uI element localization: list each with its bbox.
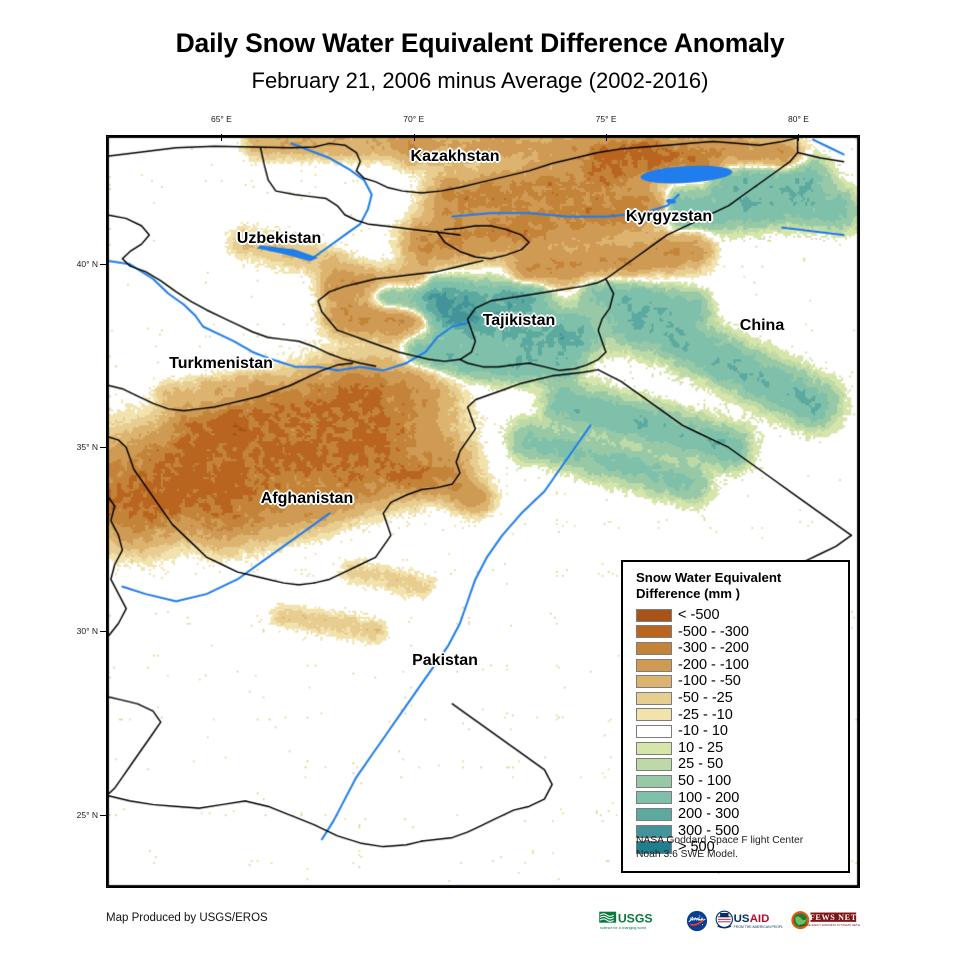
legend-swatch: [636, 625, 672, 638]
legend-swatch: [636, 742, 672, 755]
legend-panel: Snow Water Equivalent Difference (mm ) <…: [621, 560, 850, 873]
legend-label: -25 - -10: [678, 708, 733, 723]
legend-swatch: [636, 659, 672, 672]
lat-tick-label-3: 25° N: [58, 810, 98, 820]
legend-label: -100 - -50: [678, 674, 741, 689]
svg-text:FROM THE AMERICAN PEOPLE: FROM THE AMERICAN PEOPLE: [734, 925, 783, 929]
svg-text:science for a changing world: science for a changing world: [600, 926, 646, 930]
svg-text:USGS: USGS: [618, 911, 653, 925]
legend-row: 10 - 25: [636, 740, 841, 757]
legend-swatch: [636, 675, 672, 688]
nasa-logo: NASA: [686, 910, 708, 932]
legend-swatch: [636, 692, 672, 705]
lon-tick-mark-2: [606, 134, 607, 141]
legend-label: -500 - -300: [678, 625, 749, 640]
legend-row: 50 - 100: [636, 773, 841, 790]
legend-row: 25 - 50: [636, 756, 841, 773]
lat-tick-mark-2: [100, 631, 107, 632]
svg-text:NASA: NASA: [690, 917, 704, 923]
legend-swatch: [636, 808, 672, 821]
legend-label: -300 - -200: [678, 641, 749, 656]
legend-label: 100 - 200: [678, 791, 739, 806]
legend-source-line2: Noah 3.6 SWE Model.: [636, 848, 803, 862]
lat-tick-mark-1: [100, 447, 107, 448]
legend-title: Snow Water Equivalent Difference (mm ): [636, 570, 841, 602]
lon-tick-mark-1: [414, 134, 415, 141]
lon-tick-label-1: 70° E: [403, 114, 424, 124]
usgs-logo: USGS science for a changing world: [597, 910, 681, 932]
legend-row: -200 - -100: [636, 657, 841, 674]
legend-label: -50 - -25: [678, 691, 733, 706]
map-page: Daily Snow Water Equivalent Difference A…: [0, 0, 960, 960]
legend-row: < -500: [636, 607, 841, 624]
legend-label: -10 - 10: [678, 724, 728, 739]
legend-title-line1: Snow Water Equivalent: [636, 570, 841, 586]
lat-tick-label-0: 40° N: [58, 259, 98, 269]
legend-label: 25 - 50: [678, 757, 723, 772]
legend-label: -200 - -100: [678, 658, 749, 673]
legend-title-line2: Difference (mm ): [636, 586, 841, 602]
lon-tick-mark-0: [221, 134, 222, 141]
legend-swatch: [636, 708, 672, 721]
legend-source-line1: NASA Goddard Space F light Center: [636, 834, 803, 848]
legend-row: -300 - -200: [636, 640, 841, 657]
legend-swatch: [636, 775, 672, 788]
legend-source-note: NASA Goddard Space F light Center Noah 3…: [636, 834, 803, 861]
legend-swatch: [636, 791, 672, 804]
legend-row: 100 - 200: [636, 790, 841, 807]
lon-tick-label-0: 65° E: [211, 114, 232, 124]
legend-label: < -500: [678, 608, 720, 623]
legend-row: -50 - -25: [636, 690, 841, 707]
page-title: Daily Snow Water Equivalent Difference A…: [0, 28, 960, 59]
lat-tick-label-1: 35° N: [58, 442, 98, 452]
producer-credit: Map Produced by USGS/EROS: [106, 912, 268, 924]
legend-swatch: [636, 758, 672, 771]
legend-row: -100 - -50: [636, 673, 841, 690]
lon-tick-label-3: 80° E: [788, 114, 809, 124]
lat-tick-mark-3: [100, 815, 107, 816]
legend-row: -25 - -10: [636, 707, 841, 724]
agency-logo-bar: USGS science for a changing world NASA U…: [597, 908, 860, 934]
lat-tick-label-2: 30° N: [58, 626, 98, 636]
legend-swatch: [636, 725, 672, 738]
svg-text:FEWS NET: FEWS NET: [810, 913, 857, 922]
svg-text:US: US: [734, 913, 750, 925]
lon-tick-mark-3: [798, 134, 799, 141]
fews-net-logo: FEWS NET FAMINE EARLY WARNING SYSTEMS NE…: [788, 910, 860, 932]
legend-row: 200 - 300: [636, 806, 841, 823]
legend-label: 200 - 300: [678, 807, 739, 822]
legend-row: -10 - 10: [636, 723, 841, 740]
legend-items: < -500-500 - -300-300 - -200-200 - -100-…: [636, 607, 841, 856]
legend-swatch: [636, 642, 672, 655]
legend-row: -500 - -300: [636, 624, 841, 641]
svg-text:AID: AID: [750, 913, 770, 925]
legend-label: 10 - 25: [678, 741, 723, 756]
lat-tick-mark-0: [100, 264, 107, 265]
page-subtitle: February 21, 2006 minus Average (2002-20…: [0, 68, 960, 94]
legend-label: 50 - 100: [678, 774, 731, 789]
legend-swatch: [636, 609, 672, 622]
svg-text:FAMINE EARLY WARNING SYSTEMS N: FAMINE EARLY WARNING SYSTEMS NETWORK: [800, 923, 860, 927]
lon-tick-label-2: 75° E: [596, 114, 617, 124]
usaid-logo: US AID FROM THE AMERICAN PEOPLE: [713, 910, 783, 932]
